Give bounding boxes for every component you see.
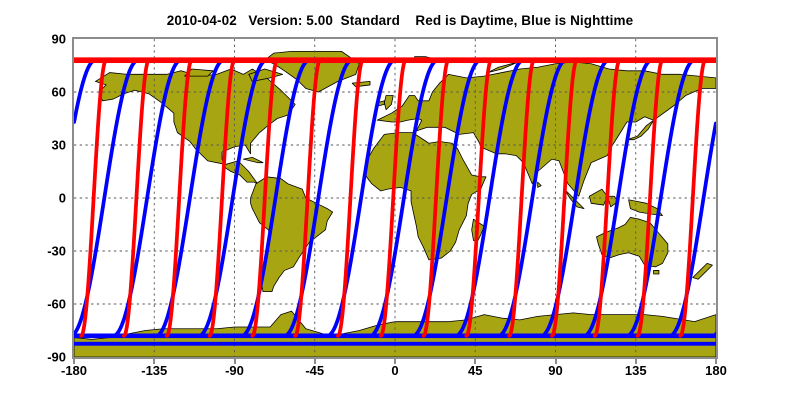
x-tick-mark (153, 359, 155, 364)
satellite-ground-track-figure: 2010-04-02 Version: 5.00 Standard Red is… (0, 0, 800, 400)
x-tick-label: 90 (521, 363, 591, 378)
x-tick-mark (635, 359, 637, 364)
x-tick-mark (314, 359, 316, 364)
y-tick-label: 0 (10, 191, 66, 206)
plot-area (72, 37, 718, 359)
x-tick-label: 135 (601, 363, 671, 378)
y-tick-label: 60 (10, 85, 66, 100)
x-tick-mark (715, 359, 717, 364)
x-tick-label: -135 (119, 363, 189, 378)
x-tick-mark (234, 359, 236, 364)
world-map-with-ground-tracks (74, 39, 716, 357)
x-tick-label: 45 (440, 363, 510, 378)
y-tick-label: -30 (10, 244, 66, 259)
x-tick-label: -180 (39, 363, 109, 378)
x-tick-mark (555, 359, 557, 364)
figure-title: 2010-04-02 Version: 5.00 Standard Red is… (0, 13, 800, 28)
x-tick-label: 180 (681, 363, 751, 378)
x-tick-label: 0 (360, 363, 430, 378)
y-tick-label: 90 (10, 32, 66, 47)
x-tick-mark (73, 359, 75, 364)
x-tick-label: -90 (200, 363, 270, 378)
x-tick-mark (474, 359, 476, 364)
x-tick-mark (394, 359, 396, 364)
y-tick-label: 30 (10, 138, 66, 153)
y-tick-label: -60 (10, 297, 66, 312)
x-tick-label: -45 (280, 363, 350, 378)
